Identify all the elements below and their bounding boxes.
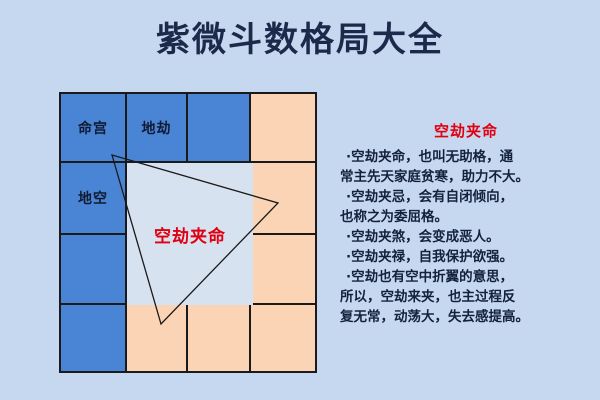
info-line: 常主先天家庭贫寒，助力不大。	[340, 167, 594, 187]
info-line: ·空劫夹禄，自我保护欲强。	[340, 247, 594, 267]
info-line: ·空劫夹煞，会变成恶人。	[340, 227, 594, 247]
chart-cell-r4c4[interactable]	[251, 305, 315, 371]
chart-cell-r2c1[interactable]: 地空	[61, 163, 127, 235]
chart-cell-r1c2[interactable]: 地劫	[127, 94, 188, 163]
chart-cell-label: 地劫	[142, 118, 172, 138]
info-line: 也称之为委屈格。	[340, 207, 594, 227]
chart-cell-r1c1[interactable]: 命宫	[61, 94, 127, 163]
center-highlight-panel: 空劫夹命	[127, 163, 253, 305]
astrology-chart: 命宫地劫地空 空劫夹命	[59, 92, 317, 373]
info-line: ·空劫夹命，也叫无助格，通	[340, 147, 594, 167]
chart-cell-r2c4[interactable]	[251, 163, 315, 235]
info-line: ·空劫夹忌，会有自闭倾向，	[340, 187, 594, 207]
info-line: 所以，空劫来夹，也主过程反	[340, 287, 594, 307]
chart-cell-r4c1[interactable]	[61, 305, 127, 371]
chart-cell-r1c3[interactable]	[188, 94, 251, 163]
chart-cell-r1c4[interactable]	[251, 94, 315, 163]
chart-cell-label: 命宫	[78, 118, 108, 138]
info-panel-heading: 空劫夹命	[338, 120, 594, 141]
slide-canvas: 紫微斗数格局大全 命宫地劫地空 空劫夹命 空劫夹命 ·空劫夹命，也叫无助格，通常…	[0, 0, 600, 400]
info-panel: 空劫夹命 ·空劫夹命，也叫无助格，通常主先天家庭贫寒，助力不大。·空劫夹忌，会有…	[338, 120, 594, 327]
info-panel-body: ·空劫夹命，也叫无助格，通常主先天家庭贫寒，助力不大。·空劫夹忌，会有自闭倾向，…	[338, 147, 594, 327]
center-highlight-label: 空劫夹命	[154, 222, 226, 247]
chart-cell-r3c1[interactable]	[61, 235, 127, 305]
chart-cell-label: 地空	[78, 188, 108, 208]
page-title: 紫微斗数格局大全	[0, 18, 600, 62]
info-line: 复无常，动荡大，失去感提高。	[340, 307, 594, 327]
chart-cell-r3c4[interactable]	[251, 235, 315, 305]
chart-cell-r4c2[interactable]	[127, 305, 188, 371]
info-line: ·空劫也有空中折翼的意思，	[340, 267, 594, 287]
chart-cell-r4c3[interactable]	[188, 305, 251, 371]
